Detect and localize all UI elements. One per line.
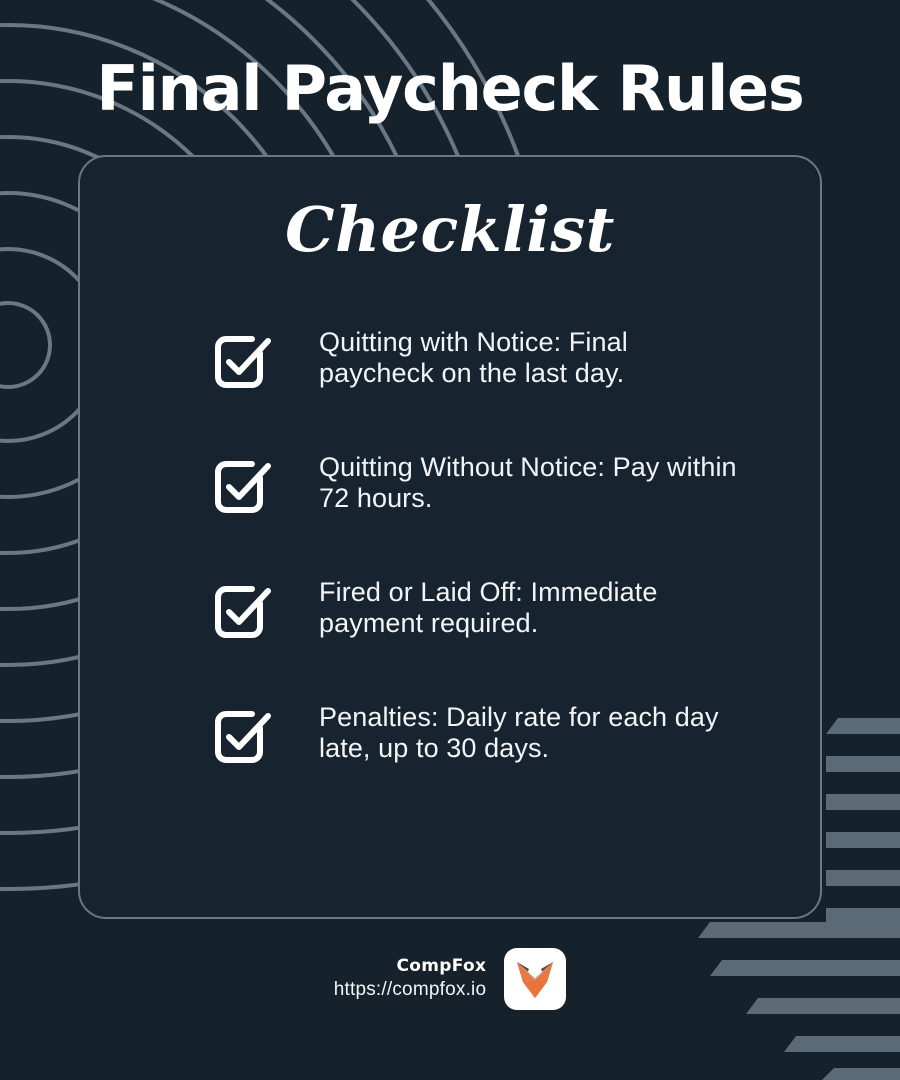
checklist-card: Checklist Quitting with Notice: Final pa… — [78, 155, 822, 919]
logo-tile — [504, 948, 566, 1010]
list-item-label: Fired or Laid Off: Immediate payment req… — [319, 577, 739, 639]
list-item: Penalties: Daily rate for each day late,… — [212, 702, 782, 827]
list-item-label: Penalties: Daily rate for each day late,… — [319, 702, 739, 764]
list-item: Fired or Laid Off: Immediate payment req… — [212, 577, 782, 702]
list-item: Quitting Without Notice: Pay within 72 h… — [212, 452, 782, 577]
checkbox-checked-icon — [212, 706, 274, 768]
checkbox-checked-icon — [212, 456, 274, 518]
checkbox-checked-icon — [212, 331, 274, 393]
list-item-label: Quitting Without Notice: Pay within 72 h… — [319, 452, 739, 514]
brand-url[interactable]: https://compfox.io — [334, 977, 487, 1003]
brand-name: CompFox — [334, 955, 487, 977]
card-heading: Checklist — [80, 199, 820, 261]
footer-text-block: CompFox https://compfox.io — [334, 955, 487, 1003]
stripes-upper-decoration — [826, 718, 900, 924]
checkbox-checked-icon — [212, 581, 274, 643]
footer-branding: CompFox https://compfox.io — [0, 948, 900, 1010]
poster-canvas: Final Paycheck Rules Checklist Quitting … — [0, 0, 900, 1080]
fox-head-logo-icon — [512, 956, 558, 1002]
list-item: Quitting with Notice: Final paycheck on … — [212, 327, 782, 452]
list-item-label: Quitting with Notice: Final paycheck on … — [319, 327, 739, 389]
page-title: Final Paycheck Rules — [0, 58, 900, 120]
checklist: Quitting with Notice: Final paycheck on … — [212, 327, 782, 827]
